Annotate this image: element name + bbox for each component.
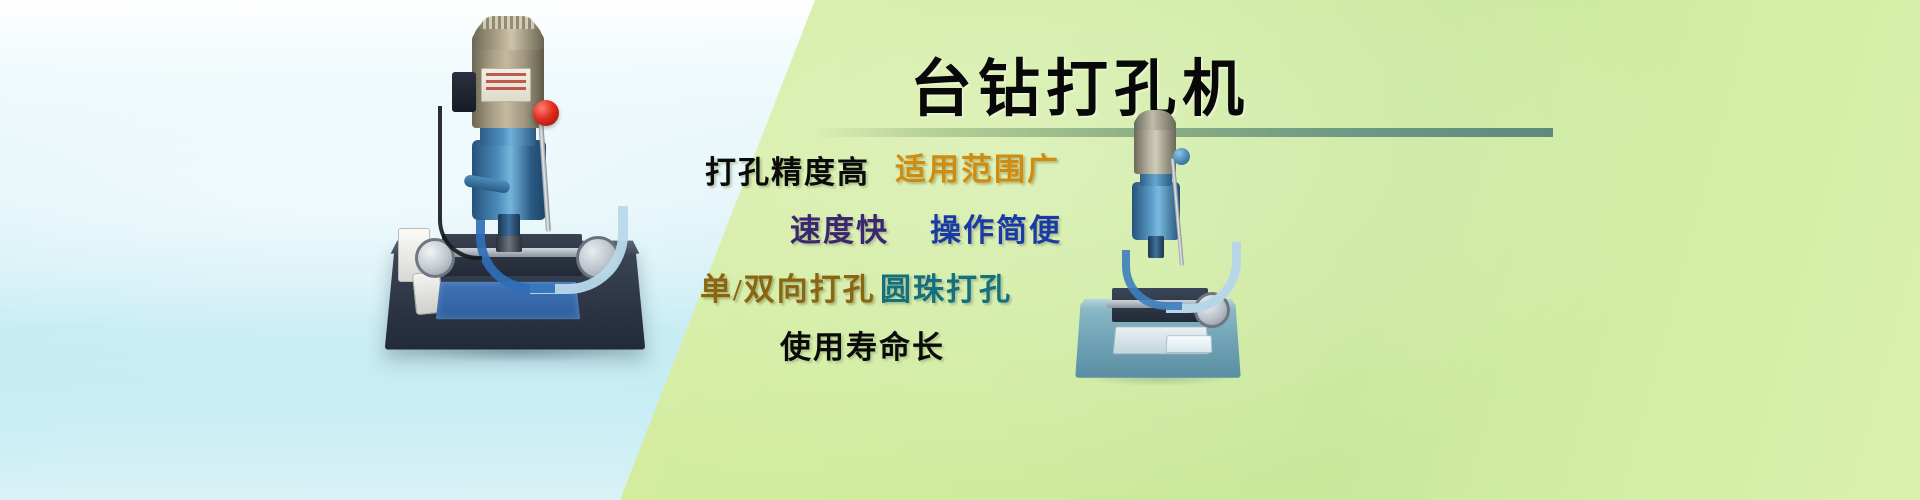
feature-item-easy-operation: 操作简便 [930, 205, 1062, 250]
product-banner: 台钻打孔机 打孔精度高 适用范围广 速度快 操作简便 单/双向打孔 圆珠打孔 使… [0, 0, 1920, 500]
feature-item-long-life: 使用寿命长 [780, 322, 945, 367]
junction-box [452, 72, 476, 112]
bench-drill-machine-left-image [380, 10, 650, 370]
feed-lever-knob [533, 100, 559, 126]
feature-item-precision: 打孔精度高 [705, 147, 870, 192]
motor-cap [1134, 110, 1176, 130]
product-sticker [1166, 335, 1213, 353]
bench-drill-machine-right-image [1070, 110, 1245, 400]
motor-nameplate [481, 68, 531, 102]
drill-quill [1148, 236, 1164, 258]
feed-lever-knob [1173, 148, 1190, 165]
drill-chuck [496, 236, 522, 252]
feature-item-single-double-drill: 单/双向打孔 [700, 264, 876, 309]
feature-item-fast-speed: 速度快 [790, 205, 889, 250]
feature-item-bead-drill: 圆珠打孔 [880, 264, 1012, 309]
feature-item-wide-range: 适用范围广 [895, 144, 1060, 189]
motor-vent [480, 16, 536, 29]
